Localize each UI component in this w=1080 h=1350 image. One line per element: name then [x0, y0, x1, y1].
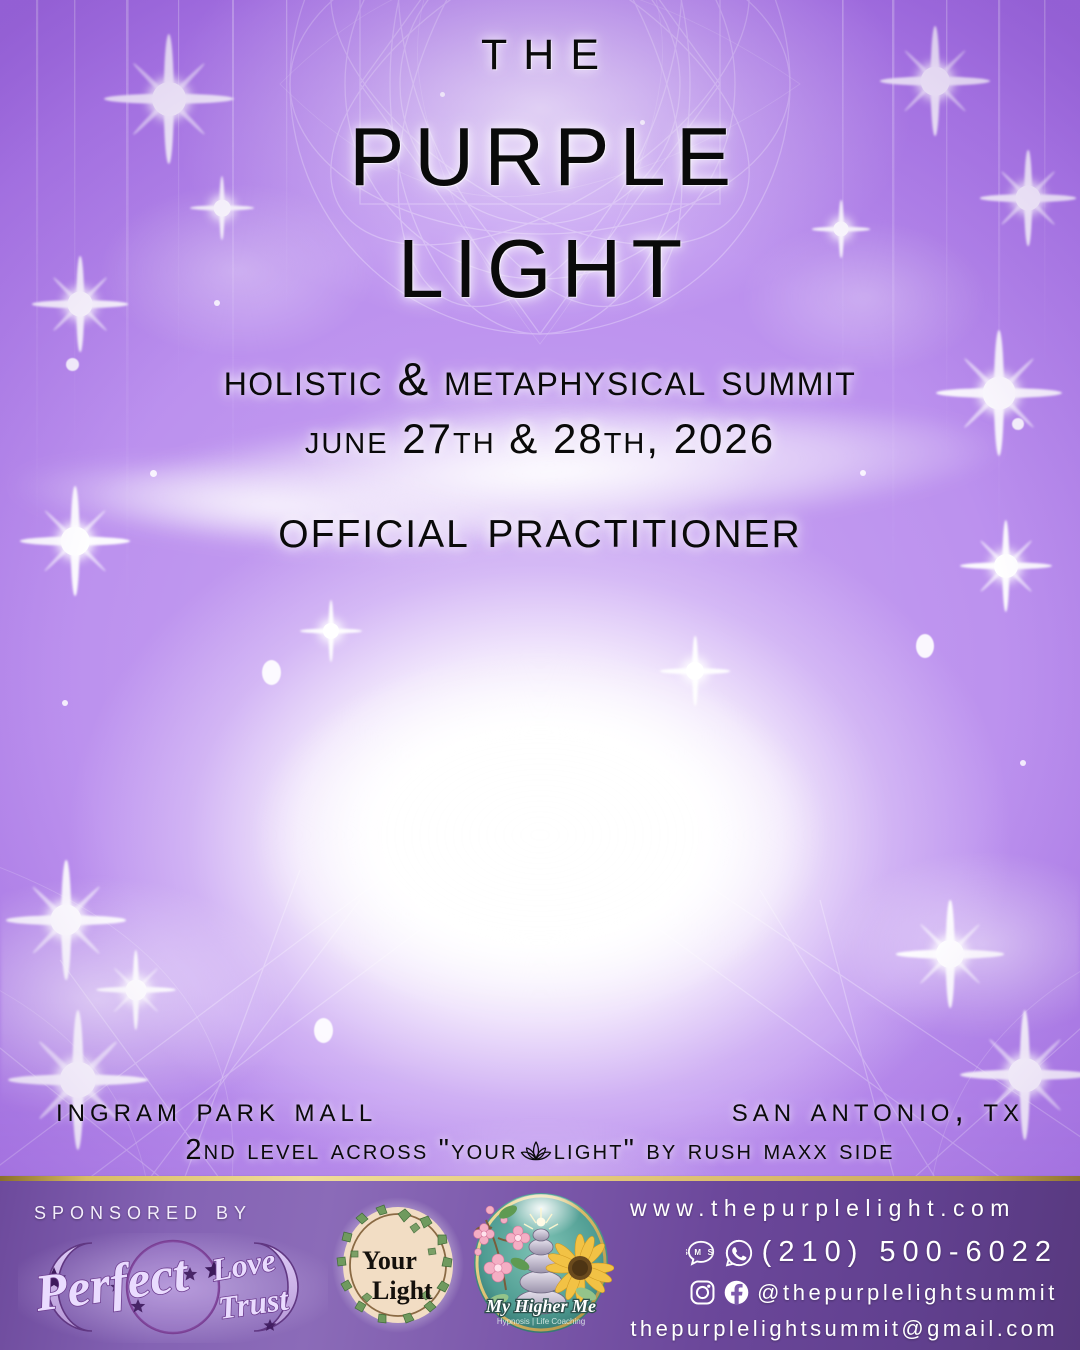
- instagram-icon[interactable]: [689, 1279, 716, 1306]
- venue-directions-before: 2nd level across "Your: [185, 1134, 517, 1167]
- headline-line-purple: Purple: [10, 86, 1080, 204]
- whatsapp-icon[interactable]: [724, 1238, 754, 1268]
- social-handle[interactable]: @thepurplelightsummit: [757, 1280, 1058, 1306]
- sponsored-by-label: Sponsored by: [34, 1197, 252, 1226]
- sponsor3-name: My Higher Me: [485, 1296, 596, 1316]
- venue-city: San Antonio, TX: [732, 1091, 1024, 1130]
- footer-bar: Sponsored by: [0, 1181, 1080, 1350]
- website-url[interactable]: www.thepurplelight.com: [588, 1195, 1058, 1222]
- poster-canvas: The Purple Light Holistic & Metaphysical…: [0, 0, 1080, 1350]
- sponsor-logo-perfect-love-perfect-trust[interactable]: Perfect Love Trust: [18, 1233, 328, 1343]
- facebook-icon[interactable]: [723, 1279, 750, 1306]
- svg-text:SMS: SMS: [686, 1247, 716, 1256]
- venue-directions: 2nd level across "Your Light" by Rush Ma…: [0, 1134, 1080, 1167]
- headline-line-the: The: [16, 18, 1080, 80]
- phone-number[interactable]: (210) 500-6022: [762, 1236, 1058, 1269]
- role-badge: Official Practitioner: [0, 495, 1080, 560]
- venue-row: Ingram Park Mall San Antonio, TX: [0, 1091, 1080, 1130]
- phone-row: SMS (210) 500-6022: [588, 1236, 1058, 1269]
- sponsor2-word-light: Light: [372, 1276, 433, 1305]
- sponsor-logo-your-light[interactable]: Your Light: [332, 1197, 464, 1333]
- social-row: @thepurplelightsummit: [588, 1279, 1058, 1306]
- email-address[interactable]: thepurplelightsummit@gmail.com: [588, 1316, 1058, 1342]
- sponsor3-tagline: Hypnosis | Life Coaching: [497, 1317, 585, 1326]
- practitioner-photo-placeholder: [170, 600, 910, 1070]
- contact-block: www.thepurplelight.com SMS (210) 500-602…: [588, 1189, 1058, 1342]
- headline-block: The Purple Light: [0, 18, 1080, 316]
- venue-directions-after: Light" by Rush Maxx side: [554, 1134, 895, 1167]
- sponsor2-word-your: Your: [362, 1246, 417, 1275]
- headline-line-light: Light: [10, 198, 1080, 316]
- venue-name: Ingram Park Mall: [56, 1091, 377, 1130]
- lotus-icon: [520, 1139, 552, 1163]
- summit-subtitle: Holistic & Metaphysical Summit: [0, 352, 1080, 406]
- sms-icon[interactable]: SMS: [686, 1238, 716, 1268]
- poster-content: The Purple Light Holistic & Metaphysical…: [0, 0, 1080, 1350]
- summit-dates: June 27th & 28th, 2026: [0, 415, 1080, 463]
